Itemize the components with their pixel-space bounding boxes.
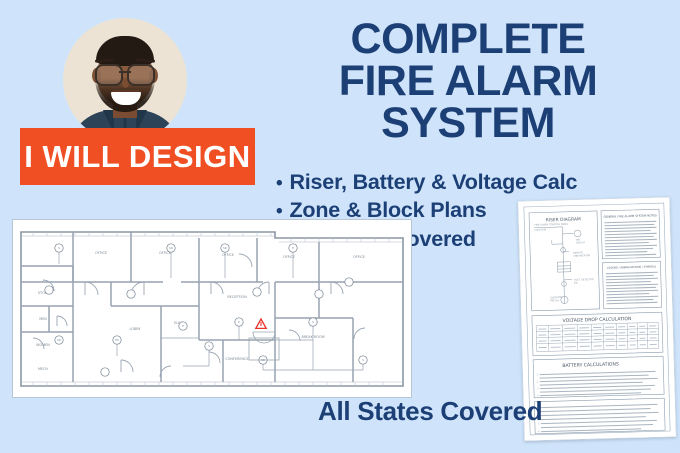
svg-text:3.: 3. xyxy=(537,387,539,390)
notes-panel-1: GENERAL FIRE ALARM SYSTEM NOTES xyxy=(601,209,660,259)
svg-text:4.: 4. xyxy=(538,430,540,433)
glasses-lens-right xyxy=(127,64,155,86)
svg-text:RECALL: RECALL xyxy=(550,299,560,302)
list-item-label: Riser, Battery & Voltage Calc xyxy=(289,168,577,196)
svg-text:LOCATION: LOCATION xyxy=(534,228,546,231)
svg-text:S: S xyxy=(58,246,60,250)
headline-line-1: COMPLETE xyxy=(268,18,668,60)
avatar-face xyxy=(89,38,161,142)
svg-text:S: S xyxy=(362,358,364,362)
svg-text:OFFICE: OFFICE xyxy=(353,255,365,259)
bullet-icon: • xyxy=(276,174,282,193)
svg-text:H: H xyxy=(292,246,294,250)
glasses-bridge xyxy=(119,71,131,73)
floorplan-image: OFFICE OFFICE OFFICE OFFICE OFFICE STOR.… xyxy=(13,220,411,397)
gig-thumbnail: I WILL DESIGN COMPLETE FIRE ALARM SYSTEM… xyxy=(0,0,680,453)
headline-line-3: SYSTEM xyxy=(268,102,668,144)
voltage-drop-panel: VOLTAGE DROP CALCULATION xyxy=(532,312,663,356)
svg-text:MEN: MEN xyxy=(39,317,47,321)
svg-text:OFFICE: OFFICE xyxy=(95,251,107,255)
svg-text:RECEPTION: RECEPTION xyxy=(227,295,247,299)
svg-text:MECH: MECH xyxy=(38,367,48,371)
floorplan-drawing: OFFICE OFFICE OFFICE OFFICE OFFICE STOR.… xyxy=(13,220,411,397)
glasses-lens-left xyxy=(95,64,123,86)
notes-panel-2: LEGEND / ABBREVIATIONS / SYMBOLS xyxy=(602,261,661,309)
svg-text:SD: SD xyxy=(223,246,227,250)
page-title: COMPLETE FIRE ALARM SYSTEM xyxy=(268,18,668,144)
bullet-icon: • xyxy=(276,202,282,221)
general-notes-panel: 1.2. 3.4. xyxy=(534,398,665,434)
svg-text:DD: DD xyxy=(574,282,578,285)
badge-label: I WILL DESIGN xyxy=(24,141,250,172)
footer-tagline: All States Covered xyxy=(318,396,542,427)
svg-text:HS: HS xyxy=(115,338,119,342)
svg-text:S: S xyxy=(208,344,210,348)
svg-text:S: S xyxy=(312,320,314,324)
svg-text:2.: 2. xyxy=(537,380,539,383)
avatar xyxy=(63,18,187,142)
svg-text:CONFERENCE: CONFERENCE xyxy=(225,357,248,361)
svg-text:SD: SD xyxy=(57,338,61,342)
svg-text:1.: 1. xyxy=(536,373,538,376)
riser-diagram-panel: RISER DIAGRAM FIRE ALARM CONTRO xyxy=(529,211,600,311)
list-item: • Riser, Battery & Voltage Calc xyxy=(276,168,606,196)
svg-text:WOMEN: WOMEN xyxy=(36,343,50,347)
svg-text:OFFICE: OFFICE xyxy=(222,253,234,257)
avatar-circle xyxy=(63,18,187,142)
svg-text:LOBBY: LOBBY xyxy=(130,327,142,331)
headline-line-2: FIRE ALARM xyxy=(268,60,668,102)
glasses-icon xyxy=(93,64,157,82)
svg-text:ANNUNCIATOR: ANNUNCIATOR xyxy=(573,254,590,257)
i-will-design-badge: I WILL DESIGN xyxy=(20,128,255,185)
battery-calculations-panel: BATTERY CALCULATIONS 1.2. 3.4. xyxy=(533,356,664,398)
svg-text:SD: SD xyxy=(169,246,173,250)
svg-text:CIRCUIT: CIRCUIT xyxy=(576,241,586,244)
